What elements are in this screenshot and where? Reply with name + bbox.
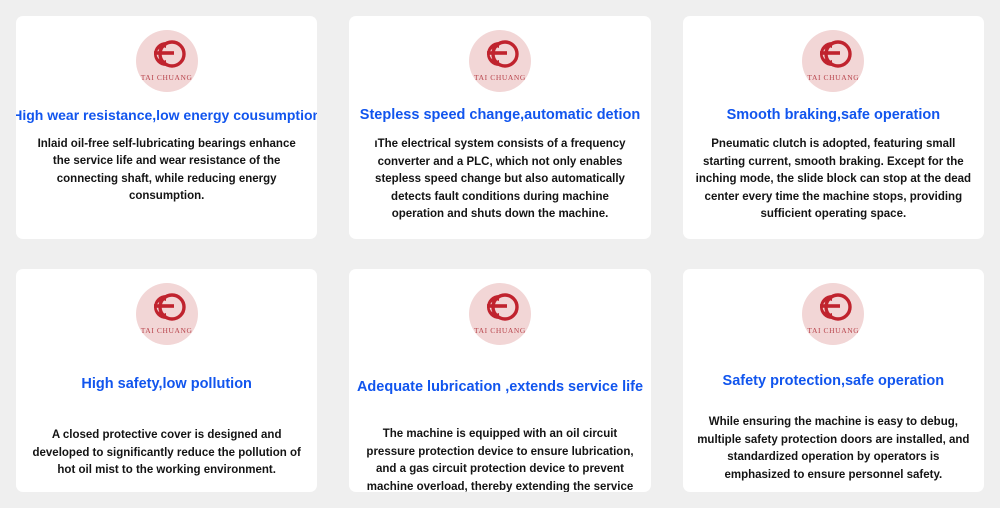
card-body-text: A closed protective cover is designed an… xyxy=(26,427,307,479)
feature-card-high-wear-resistance[interactable]: TAI CHUANG High wear resistance,low ener… xyxy=(16,16,317,239)
card-body-text: The machine is equipped with an oil circ… xyxy=(359,426,640,492)
card-body-text: Pneumatic clutch is adopted, featuring s… xyxy=(693,136,974,223)
feature-card-adequate-lubrication[interactable]: TAI CHUANG Adequate lubrication ,extends… xyxy=(349,269,650,492)
tai-chuang-logo-icon xyxy=(469,33,531,73)
card-heading: Adequate lubrication ,extends service li… xyxy=(355,379,645,396)
logo-wordmark: TAI CHUANG xyxy=(802,73,864,82)
card-heading: Smooth braking,safe operation xyxy=(725,107,943,124)
logo-wordmark: TAI CHUANG xyxy=(136,326,198,335)
tai-chuang-logo-icon xyxy=(802,286,864,326)
tai-chuang-logo: TAI CHUANG xyxy=(469,283,531,345)
card-heading: High safety,low pollution xyxy=(79,376,254,393)
card-heading: Safety protection,safe operation xyxy=(721,373,947,390)
logo-wordmark: TAI CHUANG xyxy=(136,73,198,82)
tai-chuang-logo: TAI CHUANG xyxy=(802,30,864,92)
card-heading: Stepless speed change,automatic detion xyxy=(358,107,642,124)
feature-card-high-safety[interactable]: TAI CHUANG High safety,low pollution A c… xyxy=(16,269,317,492)
tai-chuang-logo: TAI CHUANG xyxy=(469,30,531,92)
tai-chuang-logo: TAI CHUANG xyxy=(136,30,198,92)
logo-wordmark: TAI CHUANG xyxy=(469,73,531,82)
card-body-text: While ensuring the machine is easy to de… xyxy=(693,414,974,484)
logo-wordmark: TAI CHUANG xyxy=(802,326,864,335)
card-heading: High wear resistance,low energy cousumpt… xyxy=(16,107,317,124)
card-body-text: Inlaid oil-free self-lubricating bearing… xyxy=(26,136,307,206)
tai-chuang-logo: TAI CHUANG xyxy=(136,283,198,345)
tai-chuang-logo: TAI CHUANG xyxy=(802,283,864,345)
tai-chuang-logo-icon xyxy=(802,33,864,73)
tai-chuang-logo-icon xyxy=(136,33,198,73)
card-body-text: ıThe electrical system consists of a fre… xyxy=(359,136,640,223)
logo-wordmark: TAI CHUANG xyxy=(469,326,531,335)
feature-card-smooth-braking[interactable]: TAI CHUANG Smooth braking,safe operation… xyxy=(683,16,984,239)
feature-card-stepless-speed-change[interactable]: TAI CHUANG Stepless speed change,automat… xyxy=(349,16,650,239)
tai-chuang-logo-icon xyxy=(469,286,531,326)
feature-card-safety-protection[interactable]: TAI CHUANG Safety protection,safe operat… xyxy=(683,269,984,492)
tai-chuang-logo-icon xyxy=(136,286,198,326)
feature-card-grid: TAI CHUANG High wear resistance,low ener… xyxy=(0,0,1000,508)
